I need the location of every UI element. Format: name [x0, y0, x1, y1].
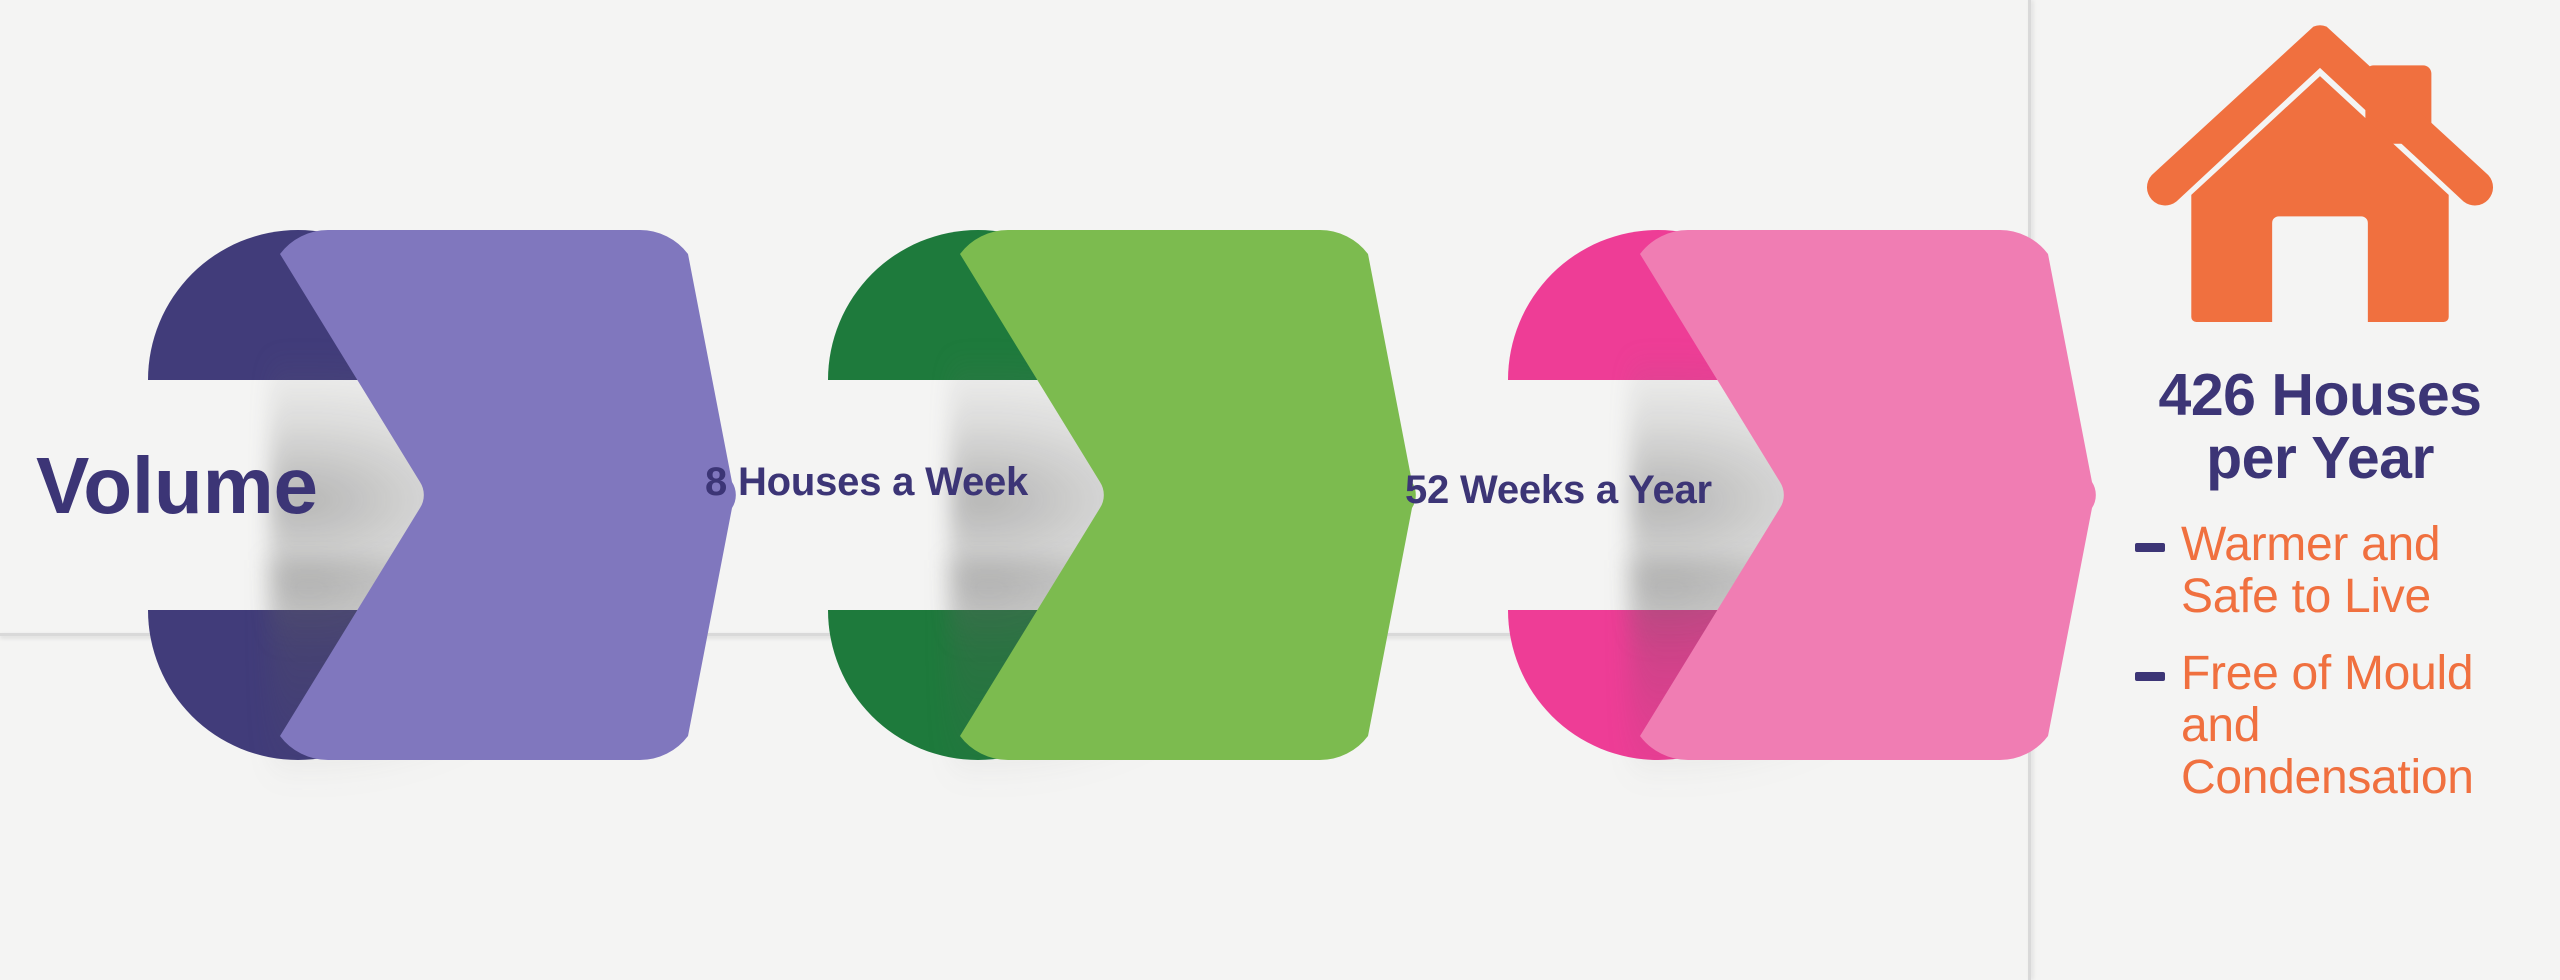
step-label-volume: Volume: [36, 440, 318, 532]
result-title-line2: per Year: [2085, 427, 2555, 490]
dash-bullet-icon: [2135, 543, 2165, 552]
step-label-houses-per-week: 8 Houses a Week: [705, 460, 1028, 505]
benefit-item: Warmer and Safe to Live: [2135, 519, 2555, 624]
benefits-list: Warmer and Safe to Live Free of Mould an…: [2085, 519, 2555, 805]
benefit-line2: and Condensation: [2181, 699, 2474, 804]
benefit-text: Free of Mould and Condensation: [2181, 648, 2555, 805]
benefit-item: Free of Mould and Condensation: [2135, 648, 2555, 805]
benefit-line2: Safe to Live: [2181, 570, 2431, 623]
benefit-line1: Warmer and: [2181, 518, 2440, 571]
benefit-line1: Free of Mould: [2181, 647, 2473, 700]
benefit-text: Warmer and Safe to Live: [2181, 519, 2440, 624]
result-title: 426 Houses per Year: [2085, 364, 2555, 489]
infographic-canvas: Volume 8 Houses a Week 52 Weeks a Year: [0, 0, 2560, 980]
step-label-weeks-per-year: 52 Weeks a Year: [1405, 468, 1712, 513]
dash-bullet-icon: [2135, 672, 2165, 681]
result-panel: 426 Houses per Year Warmer and Safe to L…: [2085, 20, 2555, 829]
result-title-line1: 426 Houses: [2085, 364, 2555, 427]
house-icon: [2130, 20, 2510, 350]
